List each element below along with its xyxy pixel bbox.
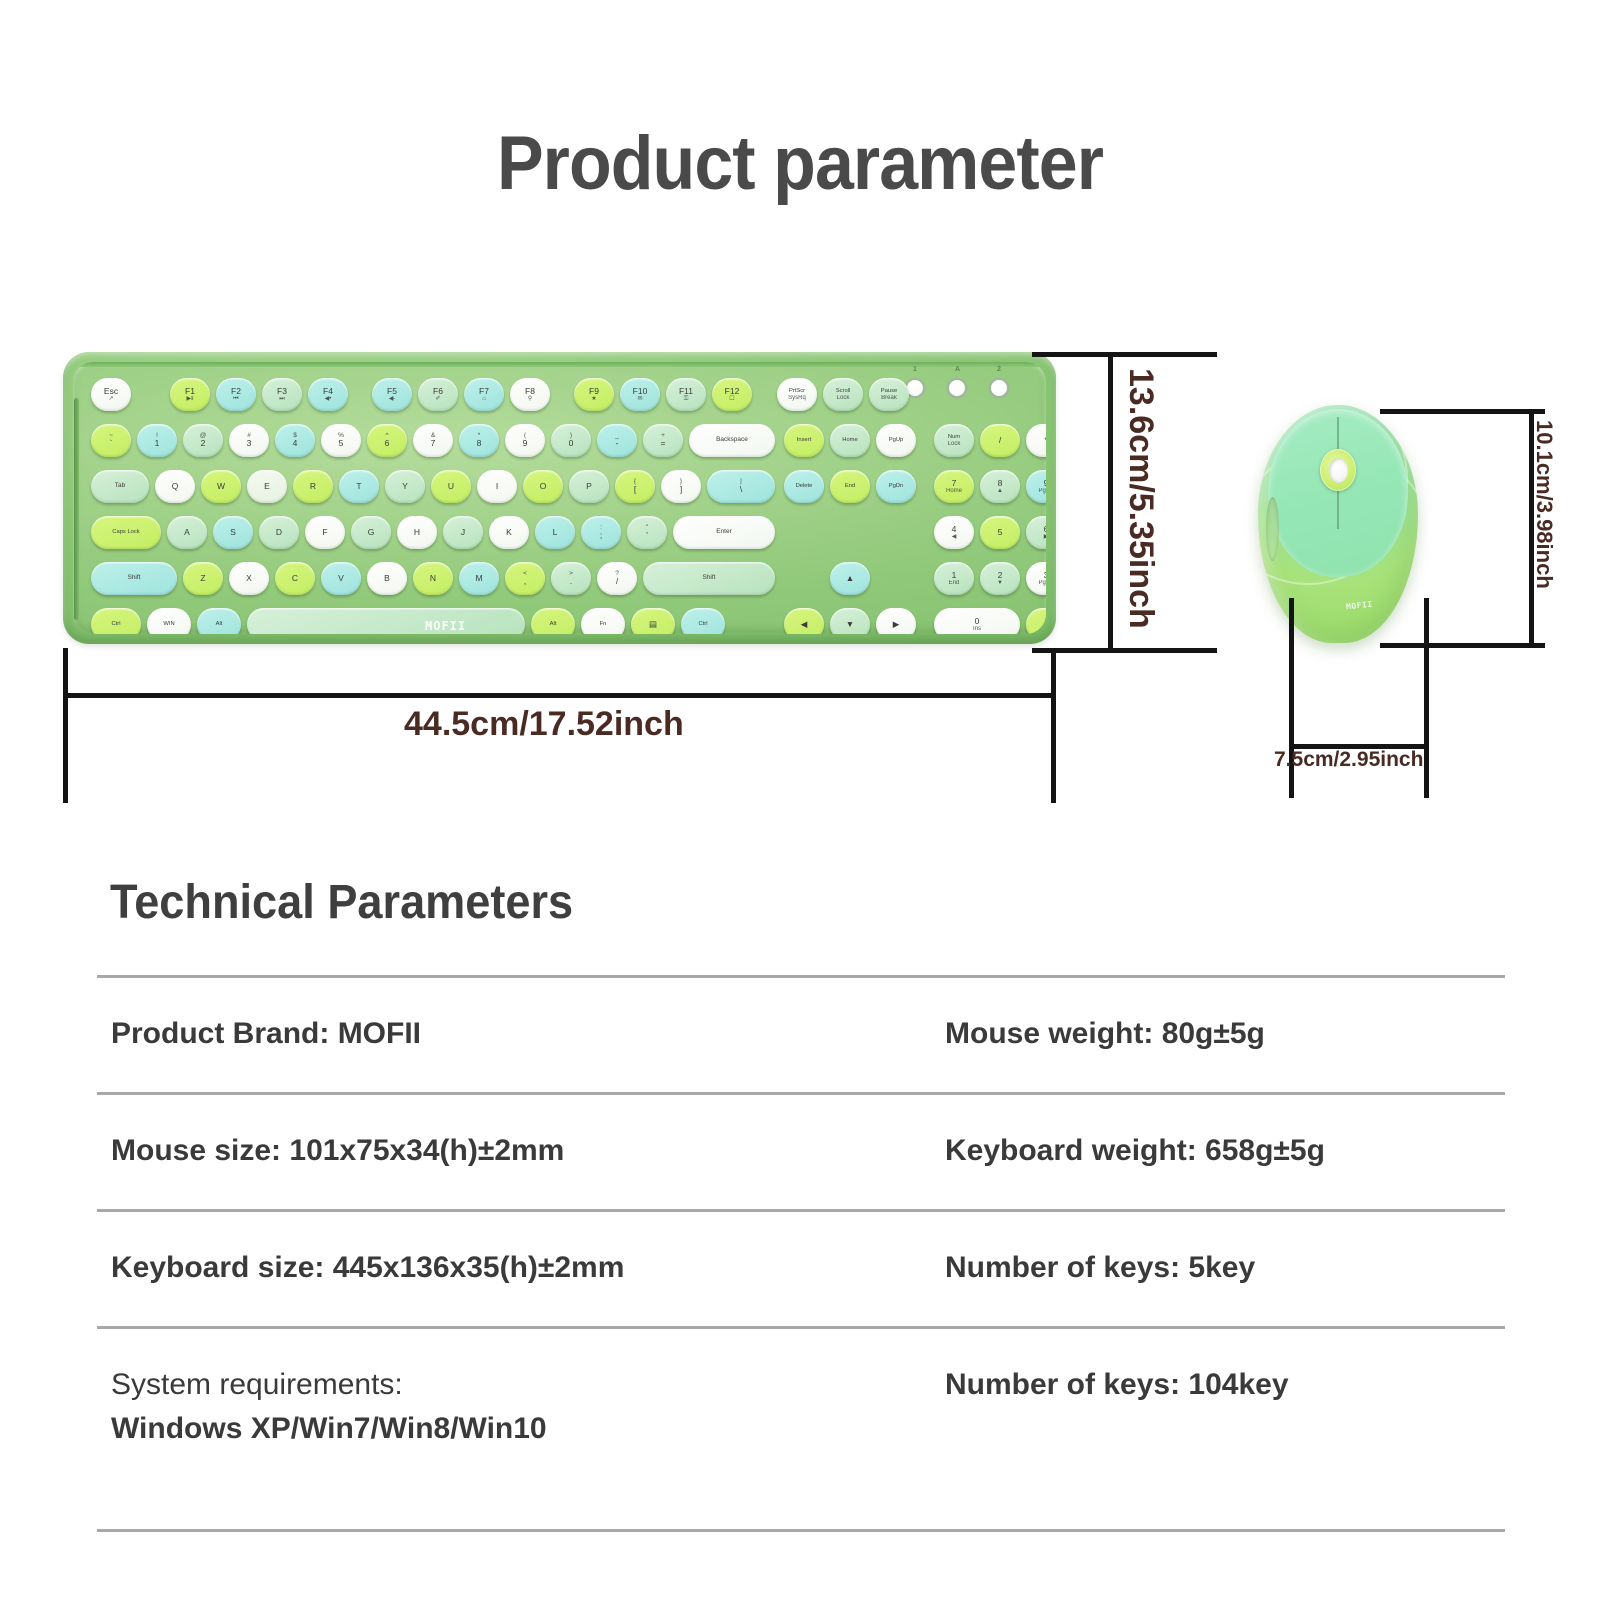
key-home-4: F bbox=[305, 516, 345, 549]
row0-left-value: MOFII bbox=[338, 1017, 421, 1050]
row3-right-value: 104key bbox=[1188, 1368, 1288, 1401]
mouse-width-label: 7.5cm/2.95inch bbox=[1274, 748, 1423, 772]
key-sub-legend: ▶ bbox=[1044, 534, 1046, 540]
key-qwerty-11: {[ bbox=[615, 470, 655, 503]
row0-right-value: 80g±5g bbox=[1162, 1017, 1265, 1050]
key-main-legend: 3 bbox=[1044, 571, 1046, 580]
mouse-height-label: 10.1cm/3.98inch bbox=[1531, 420, 1557, 589]
key-main-legend: 0 bbox=[569, 439, 574, 448]
key-shift-11: Shift bbox=[643, 562, 775, 595]
row3-right-label: Number of keys: bbox=[945, 1368, 1180, 1401]
key-qwerty-2: W bbox=[201, 470, 241, 503]
key-top-legend: " bbox=[646, 525, 648, 532]
key-fn-1: F1▶‖ bbox=[170, 378, 210, 411]
key-fn-9: F9★ bbox=[574, 378, 614, 411]
key-main-legend: Insert bbox=[797, 437, 812, 443]
key-main-legend: P bbox=[586, 482, 592, 491]
key-main-legend: F4 bbox=[323, 387, 333, 396]
key-main-legend: 0 bbox=[975, 617, 980, 626]
mouse-illustration: MOFII bbox=[1258, 405, 1418, 650]
key-numpad_extra-0: * bbox=[1026, 424, 1046, 457]
key-main-legend: . bbox=[570, 577, 572, 586]
key-bottom-8: ◀ bbox=[784, 608, 824, 634]
key-main-legend: F1 bbox=[185, 387, 195, 396]
key-bottom-1: WIN bbox=[147, 608, 191, 634]
key-fn-4: F4◀• bbox=[308, 378, 348, 411]
key-main-legend: H bbox=[414, 528, 420, 537]
key-num-13: Backspace bbox=[689, 424, 775, 457]
key-main-legend: * bbox=[1044, 436, 1046, 445]
key-sub-legend: SysRq bbox=[788, 395, 806, 401]
key-main-legend: ◀ bbox=[801, 620, 808, 629]
led-label-a: A bbox=[955, 366, 960, 373]
led-label-1: 1 bbox=[913, 366, 917, 373]
row2-left-label: Keyboard size: bbox=[111, 1251, 324, 1284]
key-bottom-10: ▶ bbox=[876, 608, 916, 634]
key-main-legend: Home bbox=[842, 437, 857, 443]
led-indicator-scrolllock bbox=[991, 380, 1007, 396]
row0-left-cell: Product Brand: MOFII bbox=[97, 1012, 937, 1056]
key-sub-legend: ◀- bbox=[389, 396, 396, 402]
key-top-legend: % bbox=[338, 433, 344, 440]
key-main-legend: Delete bbox=[796, 483, 813, 489]
key-main-legend: 1 bbox=[952, 571, 957, 580]
key-main-legend: F7 bbox=[479, 387, 489, 396]
key-shift-3: C bbox=[275, 562, 315, 595]
led-indicator-capslock bbox=[949, 380, 965, 396]
key-top-legend: ~ bbox=[109, 433, 113, 440]
key-main-legend: Q bbox=[172, 482, 179, 491]
key-main-legend: W bbox=[217, 482, 225, 491]
key-qwerty-10: P bbox=[569, 470, 609, 503]
key-main-legend: ▼ bbox=[846, 620, 854, 629]
key-main-legend: F10 bbox=[633, 387, 648, 396]
key-main-legend: Scroll bbox=[836, 388, 851, 394]
key-top-legend: _ bbox=[615, 433, 619, 440]
key-shift-10: ?/ bbox=[597, 562, 637, 595]
key-shift-9: >. bbox=[551, 562, 591, 595]
key-main-legend: M bbox=[475, 574, 482, 583]
key-qwerty-0: Tab bbox=[91, 470, 149, 503]
key-qwerty-8: I bbox=[477, 470, 517, 503]
key-main-legend: / bbox=[616, 577, 618, 586]
key-main-legend: 7 bbox=[952, 479, 957, 488]
key-main-legend: End bbox=[845, 483, 855, 489]
key-top-legend: * bbox=[478, 433, 481, 440]
key-main-legend: , bbox=[524, 577, 526, 586]
key-qwerty-1: Q bbox=[155, 470, 195, 503]
key-sub-legend: ◀ bbox=[952, 534, 957, 540]
table-rule bbox=[97, 1529, 1505, 1532]
key-sub-legend: ✐ bbox=[435, 396, 440, 402]
key-num-18: / bbox=[980, 424, 1020, 457]
key-home-13: 4◀ bbox=[934, 516, 974, 549]
key-top-legend: # bbox=[247, 433, 251, 440]
key-sub-legend: PgUp bbox=[1038, 488, 1046, 494]
row3-left-value: Windows XP/Win7/Win8/Win10 bbox=[111, 1407, 937, 1451]
key-sub-legend: Ins bbox=[973, 626, 981, 632]
mofii-logo-keyboard: MOFII bbox=[425, 619, 466, 633]
kb-width-ext-left bbox=[63, 648, 68, 803]
key-main-legend: ' bbox=[646, 531, 648, 540]
key-qwerty-3: E bbox=[247, 470, 287, 503]
key-top-legend: & bbox=[431, 433, 435, 440]
key-bottom-3 bbox=[247, 608, 525, 634]
key-top-legend: } bbox=[680, 479, 682, 486]
key-num-16: PgUp bbox=[876, 424, 916, 457]
key-main-legend: E bbox=[264, 482, 270, 491]
row1-left-cell: Mouse size: 101x75x34(h)±2mm bbox=[97, 1129, 937, 1173]
key-bottom-4: Alt bbox=[531, 608, 575, 634]
page-title: Product parameter bbox=[64, 120, 1536, 207]
key-home-9: L bbox=[535, 516, 575, 549]
key-top-legend: ? bbox=[615, 571, 619, 578]
key-main-legend: I bbox=[496, 482, 498, 491]
key-bottom-2: Alt bbox=[197, 608, 241, 634]
row0-right-cell: Mouse weight: 80g±5g bbox=[937, 1012, 1505, 1056]
key-main-legend: D bbox=[276, 528, 282, 537]
key-num-12: += bbox=[643, 424, 683, 457]
key-main-legend: Caps Lock bbox=[112, 529, 139, 535]
kb-height-ext-top bbox=[1032, 352, 1217, 357]
key-main-legend: 2 bbox=[998, 571, 1003, 580]
led-indicator-numlock bbox=[907, 380, 923, 396]
key-main-legend: F9 bbox=[589, 387, 599, 396]
key-main-legend: ] bbox=[680, 485, 682, 494]
key-main-legend: PgDn bbox=[889, 483, 904, 489]
key-top-legend: + bbox=[661, 433, 665, 440]
key-main-legend: 1 bbox=[155, 439, 160, 448]
key-qwerty-15: End bbox=[830, 470, 870, 503]
kb-width-ext-right bbox=[1051, 648, 1056, 803]
key-sub-legend: Home bbox=[946, 488, 962, 494]
key-shift-6: N bbox=[413, 562, 453, 595]
key-top-legend: @ bbox=[200, 433, 207, 440]
key-main-legend: R bbox=[310, 482, 316, 491]
key-home-12: Enter bbox=[673, 516, 775, 549]
key-num-4: $4 bbox=[275, 424, 315, 457]
key-shift-5: B bbox=[367, 562, 407, 595]
key-main-legend: L bbox=[553, 528, 558, 537]
key-main-legend: ▲ bbox=[846, 574, 854, 583]
kb-height-measure-line bbox=[1108, 352, 1113, 653]
key-top-legend: < bbox=[523, 571, 527, 578]
row2-right-label: Number of keys: bbox=[945, 1251, 1180, 1284]
key-main-legend: PgUp bbox=[889, 437, 904, 443]
key-main-legend: 5 bbox=[998, 528, 1003, 537]
key-sub-legend: ⏮ bbox=[233, 396, 238, 402]
key-main-legend: 4 bbox=[952, 525, 957, 534]
key-sub-legend: ▲ bbox=[997, 488, 1003, 494]
key-num-7: &7 bbox=[413, 424, 453, 457]
key-main-legend: G bbox=[368, 528, 375, 537]
key-top-legend: : bbox=[600, 525, 602, 532]
key-shift-2: X bbox=[229, 562, 269, 595]
key-main-legend: 9 bbox=[523, 439, 528, 448]
key-shift-8: <, bbox=[505, 562, 545, 595]
key-fn-15: PauseBreak bbox=[869, 378, 909, 411]
mouse-side-button bbox=[1266, 497, 1279, 561]
key-main-legend: 4 bbox=[293, 439, 298, 448]
keyboard-top-bar bbox=[73, 362, 1046, 367]
mouse-width-ext-right bbox=[1424, 598, 1429, 798]
keyboard-plate: 1 A 2 Esc↗F1▶‖F2⏮F3⏭F4◀•F5◀-F6✐F7⌂F8⚲F9★… bbox=[73, 362, 1046, 634]
mouse-body: MOFII bbox=[1258, 405, 1418, 643]
row2-right-cell: Number of keys: 5key bbox=[937, 1246, 1505, 1290]
key-main-legend: = bbox=[661, 439, 666, 448]
mouse-height-ext-top bbox=[1380, 409, 1545, 414]
key-qwerty-6: Y bbox=[385, 470, 425, 503]
key-main-legend: J bbox=[461, 528, 465, 537]
key-home-10: :; bbox=[581, 516, 621, 549]
key-num-14: Insert bbox=[784, 424, 824, 457]
key-main-legend: X bbox=[246, 574, 252, 583]
key-shift-4: V bbox=[321, 562, 361, 595]
key-main-legend: 6 bbox=[1044, 525, 1046, 534]
key-main-legend: 3 bbox=[247, 439, 252, 448]
key-main-legend: N bbox=[430, 574, 436, 583]
key-num-5: %5 bbox=[321, 424, 361, 457]
key-num-8: *8 bbox=[459, 424, 499, 457]
key-fn-11: F11⚿ bbox=[666, 378, 706, 411]
key-main-legend: 8 bbox=[477, 439, 482, 448]
key-home-0: Caps Lock bbox=[91, 516, 161, 549]
key-sub-legend: ⌂ bbox=[482, 396, 486, 402]
key-num-9: (9 bbox=[505, 424, 545, 457]
row1-left-value: 101x75x34(h)±2mm bbox=[289, 1134, 564, 1167]
key-qwerty-7: U bbox=[431, 470, 471, 503]
key-top-legend: ) bbox=[570, 433, 572, 440]
table-row: Keyboard size: 445x136x35(h)±2mm Number … bbox=[97, 1212, 1505, 1326]
kb-width-label: 44.5cm/17.52inch bbox=[404, 705, 684, 744]
key-main-legend: . bbox=[1045, 617, 1046, 626]
key-num-15: Home bbox=[830, 424, 870, 457]
key-bottom-9: ▼ bbox=[830, 608, 870, 634]
key-fn-7: F7⌂ bbox=[464, 378, 504, 411]
key-home-2: S bbox=[213, 516, 253, 549]
key-shift-13: 1End bbox=[934, 562, 974, 595]
key-main-legend: 8 bbox=[998, 479, 1003, 488]
key-qwerty-18: 8▲ bbox=[980, 470, 1020, 503]
key-bottom-11: 0Ins bbox=[934, 608, 1020, 634]
key-sub-legend: ⚿ bbox=[684, 396, 689, 402]
key-home-5: G bbox=[351, 516, 391, 549]
keyboard-left-edge bbox=[74, 398, 79, 620]
key-sub-legend: ★ bbox=[591, 396, 596, 402]
key-main-legend: V bbox=[338, 574, 344, 583]
key-main-legend: 7 bbox=[431, 439, 436, 448]
key-main-legend: T bbox=[356, 482, 361, 491]
key-home-11: "' bbox=[627, 516, 667, 549]
key-main-legend: Pause bbox=[881, 388, 897, 394]
key-qwerty-5: T bbox=[339, 470, 379, 503]
key-fn-10: F10✉ bbox=[620, 378, 660, 411]
key-qwerty-14: Delete bbox=[784, 470, 824, 503]
key-top-legend: $ bbox=[293, 433, 297, 440]
row3-right-cell: Number of keys: 104key bbox=[937, 1363, 1505, 1407]
key-sub-legend: ✉ bbox=[637, 396, 642, 402]
key-fn-12: F12☐ bbox=[712, 378, 752, 411]
key-main-legend: F2 bbox=[231, 387, 241, 396]
key-main-legend: ▤ bbox=[649, 620, 657, 629]
key-top-legend: ( bbox=[524, 433, 526, 440]
key-main-legend: [ bbox=[634, 485, 636, 494]
table-row: System requirements: Windows XP/Win7/Win… bbox=[97, 1329, 1505, 1529]
key-main-legend: Y bbox=[402, 482, 408, 491]
key-bottom-7: Ctrl bbox=[681, 608, 725, 634]
key-main-legend: Num bbox=[948, 434, 960, 440]
key-main-legend: Z bbox=[200, 574, 205, 583]
row0-right-label: Mouse weight: bbox=[945, 1017, 1153, 1050]
row2-left-cell: Keyboard size: 445x136x35(h)±2mm bbox=[97, 1246, 937, 1290]
technical-parameters-table: Product Brand: MOFII Mouse weight: 80g±5… bbox=[97, 975, 1505, 1532]
keyboard-body: 1 A 2 Esc↗F1▶‖F2⏮F3⏭F4◀•F5◀-F6✐F7⌂F8⚲F9★… bbox=[63, 352, 1056, 644]
row1-right-cell: Keyboard weight: 658g±5g bbox=[937, 1129, 1505, 1173]
key-fn-14: ScrollLock bbox=[823, 378, 863, 411]
technical-parameters-heading: Technical Parameters bbox=[110, 875, 573, 930]
key-main-legend: Tab bbox=[115, 483, 125, 490]
key-main-legend: Backspace bbox=[716, 437, 748, 444]
key-main-legend: ; bbox=[600, 531, 602, 540]
key-num-1: !1 bbox=[137, 424, 177, 457]
key-qwerty-13: |\ bbox=[707, 470, 775, 503]
key-main-legend: F bbox=[322, 528, 327, 537]
key-num-17: NumLock bbox=[934, 424, 974, 457]
key-main-legend: F6 bbox=[433, 387, 443, 396]
row0-left-label: Product Brand: bbox=[111, 1017, 329, 1050]
key-fn-8: F8⚲ bbox=[510, 378, 550, 411]
key-home-6: H bbox=[397, 516, 437, 549]
key-sub-legend: Lock bbox=[837, 395, 850, 401]
key-main-legend: 6 bbox=[385, 439, 390, 448]
key-sub-legend: ▼ bbox=[997, 580, 1003, 586]
key-main-legend: A bbox=[184, 528, 190, 537]
key-qwerty-19: 9PgUp bbox=[1026, 470, 1046, 503]
key-qwerty-12: }] bbox=[661, 470, 701, 503]
key-num-11: _- bbox=[597, 424, 637, 457]
key-bottom-5: Fn bbox=[581, 608, 625, 634]
key-num-0: ~` bbox=[91, 424, 131, 457]
key-main-legend: Fn bbox=[600, 621, 607, 627]
key-qwerty-9: O bbox=[523, 470, 563, 503]
key-fn-13: PrtScrSysRq bbox=[777, 378, 817, 411]
key-bottom-12: .Del bbox=[1026, 608, 1046, 634]
key-sub-legend: Break bbox=[881, 395, 897, 401]
key-shift-0: Shift bbox=[91, 562, 177, 595]
key-main-legend: Shift bbox=[702, 575, 715, 582]
key-home-14: 5 bbox=[980, 516, 1020, 549]
key-home-1: A bbox=[167, 516, 207, 549]
key-sub-legend: ⚲ bbox=[528, 396, 532, 402]
row3-left-label: System requirements: bbox=[111, 1363, 937, 1407]
key-num-2: @2 bbox=[183, 424, 223, 457]
key-main-legend: F11 bbox=[679, 387, 693, 396]
key-fn-6: F6✐ bbox=[418, 378, 458, 411]
row2-left-value: 445x136x35(h)±2mm bbox=[333, 1251, 625, 1284]
key-sub-legend: PgDn bbox=[1038, 580, 1046, 586]
key-sub-legend: Lock bbox=[948, 441, 961, 447]
key-qwerty-16: PgDn bbox=[876, 470, 916, 503]
key-main-legend: Alt bbox=[216, 621, 223, 627]
key-bottom-6: ▤ bbox=[631, 608, 675, 634]
key-main-legend: WIN bbox=[163, 621, 174, 627]
key-main-legend: F12 bbox=[725, 387, 740, 396]
key-main-legend: \ bbox=[740, 485, 742, 494]
key-main-legend: S bbox=[230, 528, 236, 537]
key-main-legend: B bbox=[384, 574, 390, 583]
key-home-7: J bbox=[443, 516, 483, 549]
key-main-legend: Enter bbox=[716, 529, 732, 536]
key-num-3: #3 bbox=[229, 424, 269, 457]
key-shift-7: M bbox=[459, 562, 499, 595]
product-parameter-page: Product parameter 1 A 2 Esc↗F1▶‖F2⏮F3⏭F4… bbox=[0, 0, 1600, 1600]
key-main-legend: ` bbox=[110, 439, 113, 448]
key-top-legend: ^ bbox=[385, 433, 388, 440]
key-num-10: )0 bbox=[551, 424, 591, 457]
key-top-legend: ! bbox=[156, 433, 158, 440]
key-home-3: D bbox=[259, 516, 299, 549]
key-sub-legend: ⏭ bbox=[279, 396, 284, 402]
key-main-legend: Ctrl bbox=[698, 621, 707, 627]
key-main-legend: 5 bbox=[339, 439, 344, 448]
row3-left-cell: System requirements: Windows XP/Win7/Win… bbox=[97, 1363, 937, 1450]
key-fn-0: Esc↗ bbox=[91, 378, 131, 411]
kb-height-ext-bottom bbox=[1032, 648, 1217, 653]
key-main-legend: Alt bbox=[550, 621, 557, 627]
key-main-legend: ▶ bbox=[893, 620, 900, 629]
keyboard-illustration: 1 A 2 Esc↗F1▶‖F2⏮F3⏭F4◀•F5◀-F6✐F7⌂F8⚲F9★… bbox=[63, 352, 1056, 644]
key-main-legend: 9 bbox=[1044, 479, 1046, 488]
key-main-legend: Ctrl bbox=[111, 621, 120, 627]
key-fn-5: F5◀- bbox=[372, 378, 412, 411]
key-top-legend: | bbox=[740, 479, 742, 486]
key-main-legend: - bbox=[616, 439, 619, 448]
key-top-legend: { bbox=[634, 479, 636, 486]
key-qwerty-17: 7Home bbox=[934, 470, 974, 503]
row2-right-value: 5key bbox=[1188, 1251, 1255, 1284]
key-shift-14: 2▼ bbox=[980, 562, 1020, 595]
key-qwerty-4: R bbox=[293, 470, 333, 503]
key-fn-2: F2⏮ bbox=[216, 378, 256, 411]
key-main-legend: C bbox=[292, 574, 298, 583]
key-shift-1: Z bbox=[183, 562, 223, 595]
key-main-legend: 2 bbox=[201, 439, 206, 448]
key-main-legend: K bbox=[506, 528, 512, 537]
key-home-15: 6▶ bbox=[1026, 516, 1046, 549]
key-top-legend: > bbox=[569, 571, 573, 578]
key-sub-legend: ↗ bbox=[108, 396, 113, 402]
key-main-legend: F5 bbox=[387, 387, 397, 396]
key-main-legend: PrtScr bbox=[789, 388, 805, 394]
key-sub-legend: Del bbox=[1041, 626, 1046, 632]
row1-left-label: Mouse size: bbox=[111, 1134, 281, 1167]
scroll-wheel-icon bbox=[1320, 449, 1356, 491]
key-main-legend: F8 bbox=[525, 387, 535, 396]
row1-right-value: 658g±5g bbox=[1205, 1134, 1325, 1167]
key-num-6: ^6 bbox=[367, 424, 407, 457]
key-main-legend: O bbox=[540, 482, 547, 491]
key-fn-3: F3⏭ bbox=[262, 378, 302, 411]
key-bottom-0: Ctrl bbox=[91, 608, 141, 634]
key-shift-15: 3PgDn bbox=[1026, 562, 1046, 595]
kb-width-measure-line bbox=[63, 693, 1056, 698]
key-main-legend: Esc bbox=[104, 387, 118, 396]
key-shift-12: ▲ bbox=[830, 562, 870, 595]
table-row: Product Brand: MOFII Mouse weight: 80g±5… bbox=[97, 978, 1505, 1092]
key-main-legend: Shift bbox=[127, 575, 140, 582]
key-sub-legend: ☐ bbox=[729, 396, 734, 402]
mouse-height-ext-bottom bbox=[1380, 643, 1545, 648]
